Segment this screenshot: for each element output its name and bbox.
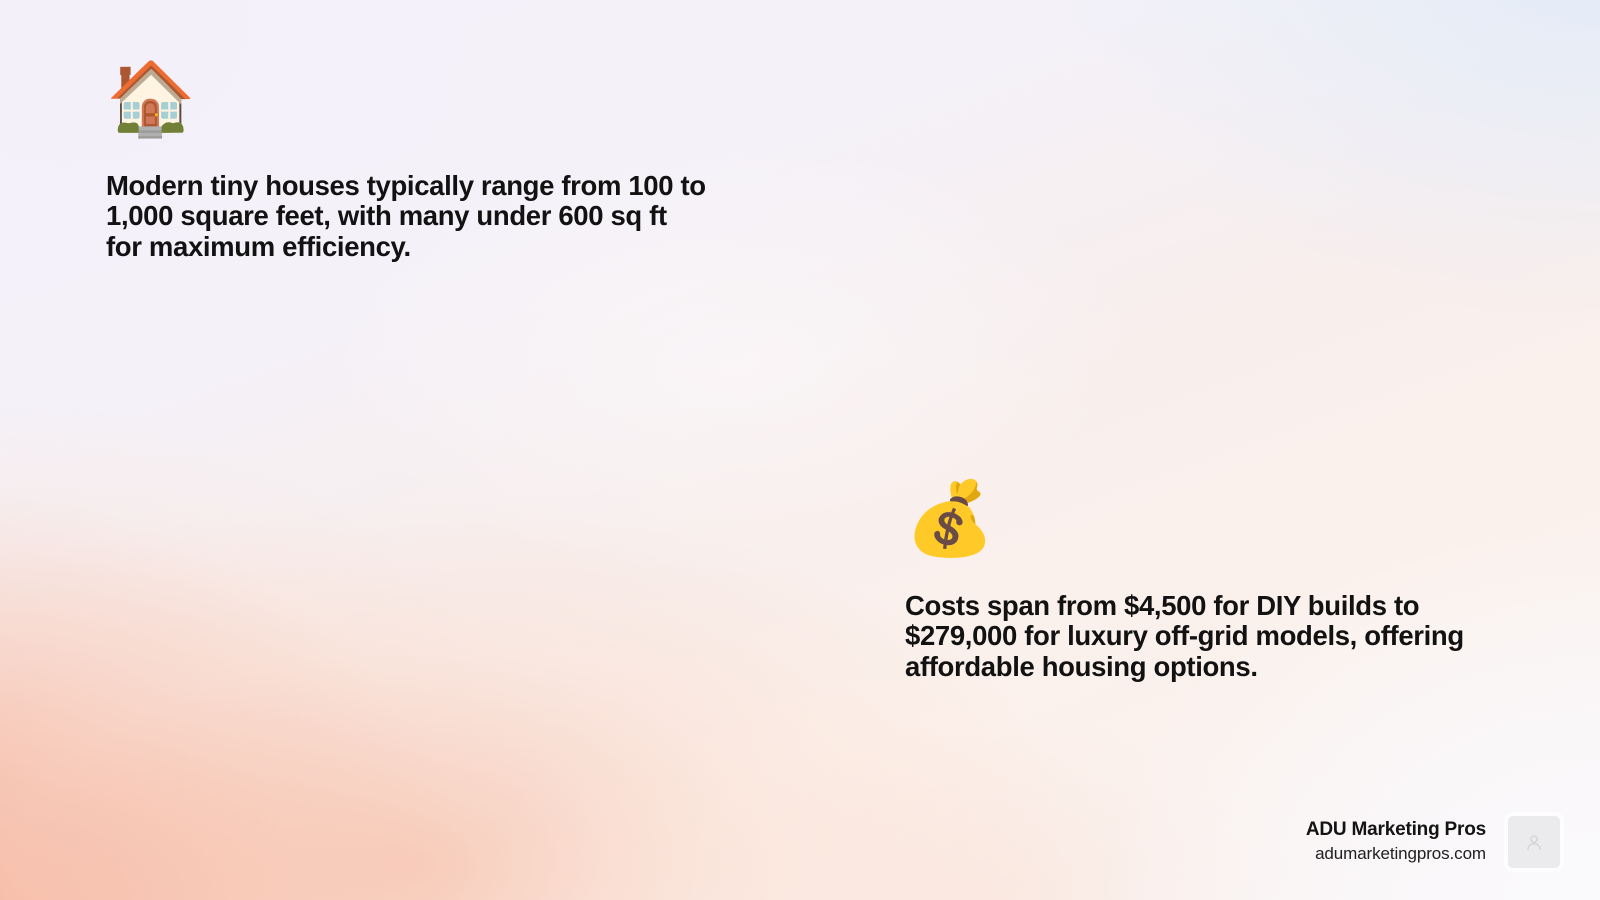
fact-text-size-range: Modern tiny houses typically range from … bbox=[106, 171, 706, 262]
fact-text-cost-range: Costs span from $4,500 for DIY builds to… bbox=[905, 591, 1475, 682]
fact-card-size-range: 🏠 Modern tiny houses typically range fro… bbox=[0, 0, 798, 420]
brand-logo-placeholder-icon bbox=[1504, 812, 1564, 872]
house-icon: 🏠 bbox=[106, 62, 798, 134]
footer-text-group: ADU Marketing Pros adumarketingpros.com bbox=[1306, 818, 1486, 867]
money-bag-icon: 💰 bbox=[905, 482, 1500, 554]
footer-branding: ADU Marketing Pros adumarketingpros.com bbox=[1306, 812, 1564, 872]
brand-name: ADU Marketing Pros bbox=[1306, 818, 1486, 842]
infographic-canvas: 🏠 Modern tiny houses typically range fro… bbox=[0, 0, 1600, 900]
facts-grid: 🏠 Modern tiny houses typically range fro… bbox=[0, 0, 1600, 900]
fact-card-sustainability: 🌿 These compact homes drastically reduce… bbox=[0, 840, 798, 900]
brand-url: adumarketingpros.com bbox=[1306, 843, 1486, 866]
fact-card-cost-range: 💰 Costs span from $4,500 for DIY builds … bbox=[0, 420, 1500, 840]
